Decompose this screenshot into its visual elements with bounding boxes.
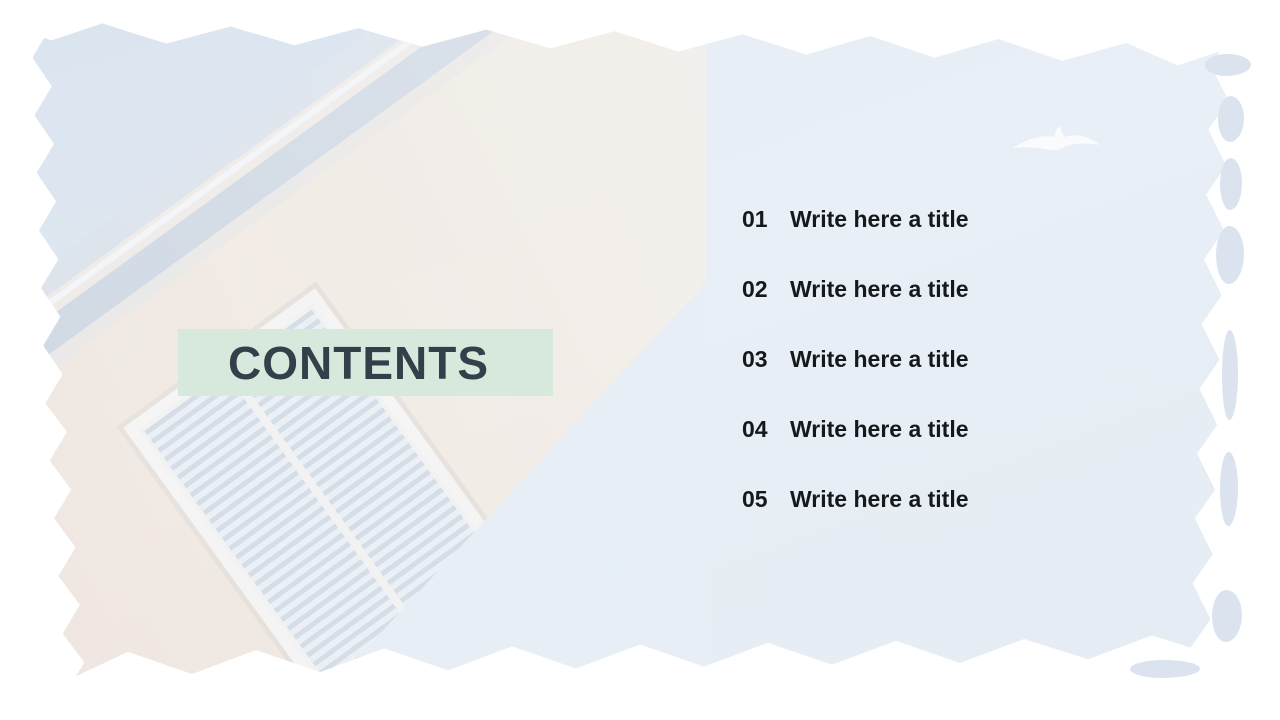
list-item[interactable]: 03 Write here a title xyxy=(742,346,1182,416)
list-item-number: 05 xyxy=(742,486,790,513)
list-item-label: Write here a title xyxy=(790,416,969,443)
list-item[interactable]: 05 Write here a title xyxy=(742,486,1182,556)
contents-list: 01 Write here a title 02 Write here a ti… xyxy=(742,206,1182,556)
page-title: CONTENTS xyxy=(228,336,489,390)
seagull-icon xyxy=(1010,118,1102,164)
list-item[interactable]: 01 Write here a title xyxy=(742,206,1182,276)
list-item-number: 03 xyxy=(742,346,790,373)
list-item-label: Write here a title xyxy=(790,276,969,303)
contents-title-block: CONTENTS xyxy=(178,329,553,396)
list-item-label: Write here a title xyxy=(790,346,969,373)
contents-slide: CONTENTS 01 Write here a title 02 Write … xyxy=(0,0,1280,720)
list-item-number: 04 xyxy=(742,416,790,443)
list-item-label: Write here a title xyxy=(790,206,969,233)
list-item-number: 01 xyxy=(742,206,790,233)
list-item-number: 02 xyxy=(742,276,790,303)
list-item-label: Write here a title xyxy=(790,486,969,513)
list-item[interactable]: 04 Write here a title xyxy=(742,416,1182,486)
list-item[interactable]: 02 Write here a title xyxy=(742,276,1182,346)
